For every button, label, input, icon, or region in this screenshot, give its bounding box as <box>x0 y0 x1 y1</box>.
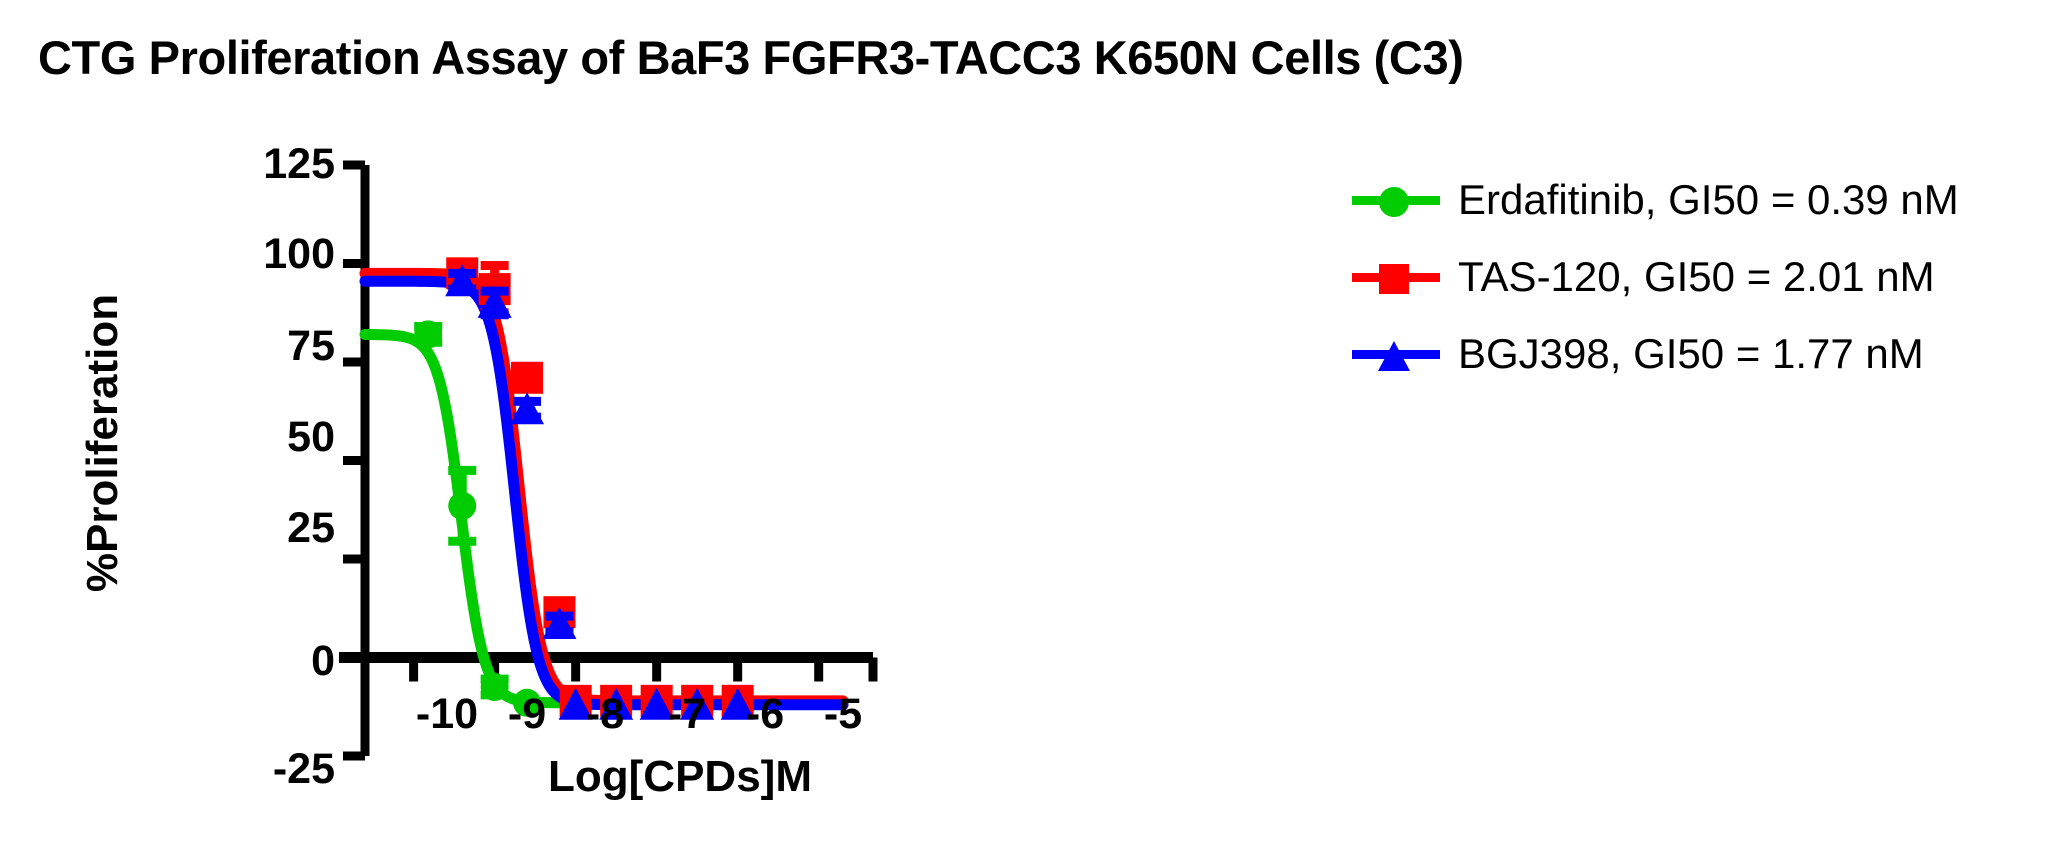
y-axis-label: %Proliferation <box>78 278 128 608</box>
y-tick-label: 75 <box>155 322 335 371</box>
legend-item-bgj398[interactable]: BGJ398, GI50 = 1.77 nM <box>1352 322 1959 385</box>
legend-label: TAS-120, GI50 = 2.01 nM <box>1458 253 1935 301</box>
legend-label: BGJ398, GI50 = 1.77 nM <box>1458 330 1924 378</box>
y-tick-label: 125 <box>155 140 335 189</box>
chart-figure: CTG Proliferation Assay of BaF3 FGFR3-TA… <box>0 0 2070 852</box>
legend-item-erdafitinib[interactable]: Erdafitinib, GI50 = 0.39 nM <box>1352 168 1959 231</box>
legend-label: Erdafitinib, GI50 = 0.39 nM <box>1458 176 1959 224</box>
x-axis-label: Log[CPDs]M <box>500 752 860 802</box>
legend: Erdafitinib, GI50 = 0.39 nM TAS-120, GI5… <box>1352 168 1959 399</box>
legend-marker-square-icon <box>1352 252 1440 302</box>
y-tick-label: 100 <box>155 230 335 279</box>
y-tick-label: 25 <box>155 504 335 553</box>
x-tick-label: -5 <box>783 690 903 739</box>
plot-area: %Proliferation Log[CPDs]M 125 100 75 50 … <box>0 0 1330 852</box>
y-tick-label: 50 <box>155 413 335 462</box>
y-tick-label: -25 <box>155 745 335 794</box>
legend-item-tas120[interactable]: TAS-120, GI50 = 2.01 nM <box>1352 245 1959 308</box>
legend-marker-triangle-icon <box>1352 329 1440 379</box>
series-curve <box>365 334 843 702</box>
legend-marker-circle-icon <box>1352 175 1440 225</box>
y-tick-label: 0 <box>155 637 335 686</box>
